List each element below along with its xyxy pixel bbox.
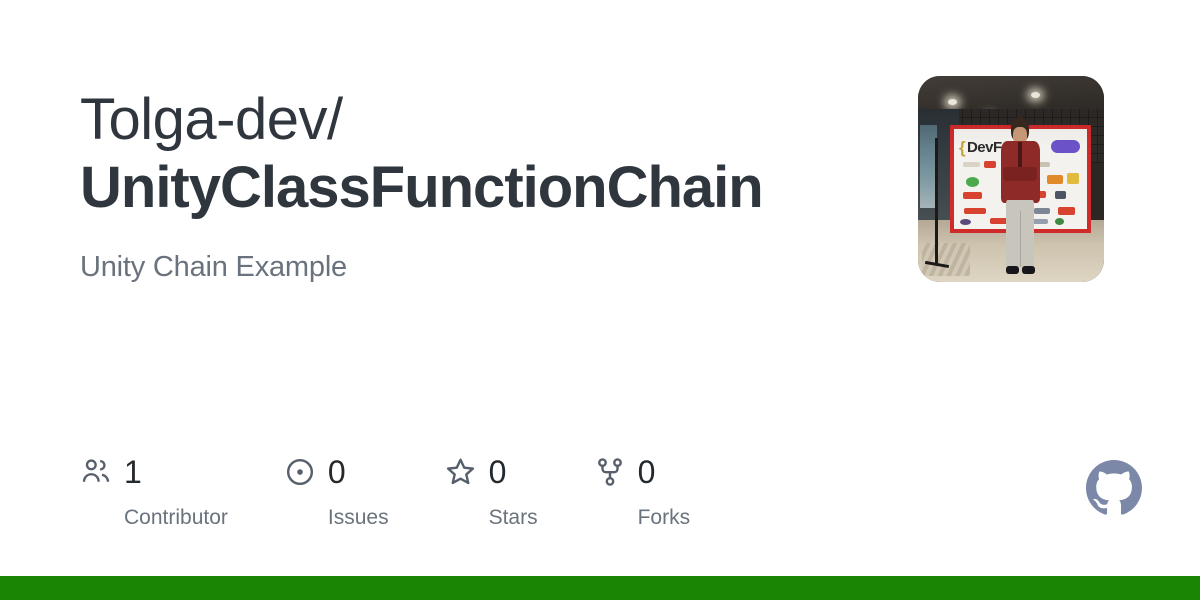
stat-forks-top: 0 bbox=[594, 450, 656, 494]
repository-name: UnityClassFunctionChain bbox=[80, 154, 880, 222]
avatar: { DevFest } bbox=[918, 76, 1104, 282]
repository-heading: Tolga-dev/ UnityClassFunctionChain Unity… bbox=[80, 86, 880, 287]
stat-forks: 0 Forks bbox=[594, 450, 691, 530]
repo-forked-icon bbox=[594, 456, 626, 488]
stat-contributors-value: 1 bbox=[124, 456, 142, 488]
github-mark-icon bbox=[1086, 460, 1142, 516]
page-title: Tolga-dev/ UnityClassFunctionChain bbox=[80, 86, 880, 223]
issue-opened-icon bbox=[284, 456, 316, 488]
repository-owner: Tolga-dev/ bbox=[80, 86, 880, 154]
photo-vignette bbox=[918, 76, 1104, 282]
stat-issues-top: 0 bbox=[284, 450, 346, 494]
stat-issues-label: Issues bbox=[284, 506, 389, 530]
stat-stars-value: 0 bbox=[489, 456, 507, 488]
people-icon bbox=[80, 456, 112, 488]
stat-contributors: 1 Contributor bbox=[80, 450, 228, 530]
stat-stars: 0 Stars bbox=[445, 450, 538, 530]
stat-issues-value: 0 bbox=[328, 456, 346, 488]
avatar-photo: { DevFest } bbox=[918, 76, 1104, 282]
stat-forks-label: Forks bbox=[594, 506, 691, 530]
stat-contributors-label: Contributor bbox=[80, 506, 228, 530]
stat-contributors-top: 1 bbox=[80, 450, 142, 494]
stat-issues: 0 Issues bbox=[284, 450, 389, 530]
star-icon bbox=[445, 456, 477, 488]
stat-forks-value: 0 bbox=[638, 456, 656, 488]
repository-social-preview-card: Tolga-dev/ UnityClassFunctionChain Unity… bbox=[0, 0, 1200, 600]
repository-stats: 1 Contributor 0 Issues bbox=[80, 450, 746, 530]
repository-description: Unity Chain Example bbox=[80, 223, 880, 287]
accent-bar bbox=[0, 576, 1200, 600]
stat-stars-label: Stars bbox=[445, 506, 538, 530]
stat-stars-top: 0 bbox=[445, 450, 507, 494]
